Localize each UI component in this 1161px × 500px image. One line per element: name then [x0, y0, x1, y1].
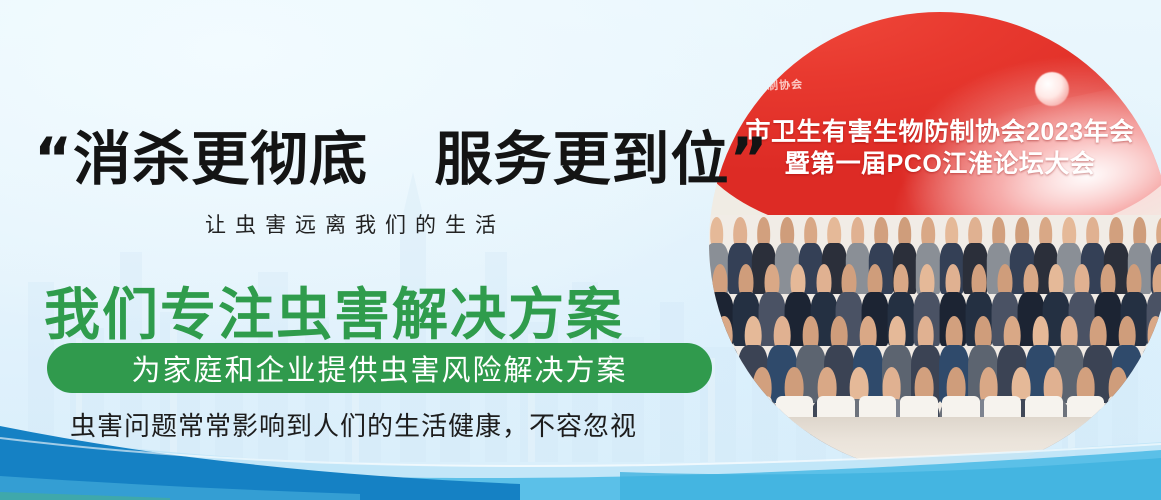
- headline-part-1: “消杀更彻底: [34, 125, 368, 193]
- tagline: 虫害问题常常影响到人们的生活健康，不容忽视: [70, 406, 637, 443]
- page-title: “消杀更彻底 服务更到位”: [34, 112, 769, 196]
- subtitle: 让虫害远离我们的生活: [205, 209, 505, 239]
- highlight-pill: 为家庭和企业提供虫害风险解决方案: [47, 343, 712, 393]
- photo-banner-line2: 暨第一届PCO江淮论坛大会: [709, 150, 1161, 180]
- highlight-pill-label: 为家庭和企业提供虫害风险解决方案: [131, 347, 627, 389]
- photo-banner-line1: 市卫生有害生物防制协会2023年会: [709, 118, 1161, 148]
- headline-part-2: 服务更到位”: [435, 125, 769, 193]
- photo-banner-text: 市卫生有害生物防制协会2023年会 暨第一届PCO江淮论坛大会: [709, 118, 1161, 179]
- promo-banner: 防制协会 市卫生有害生物防制协会2023年会 暨第一届PCO江淮论坛大会: [0, 0, 1161, 500]
- photo-seal-text: 防制协会: [755, 75, 804, 93]
- green-heading: 我们专注虫害解决方案: [44, 270, 624, 351]
